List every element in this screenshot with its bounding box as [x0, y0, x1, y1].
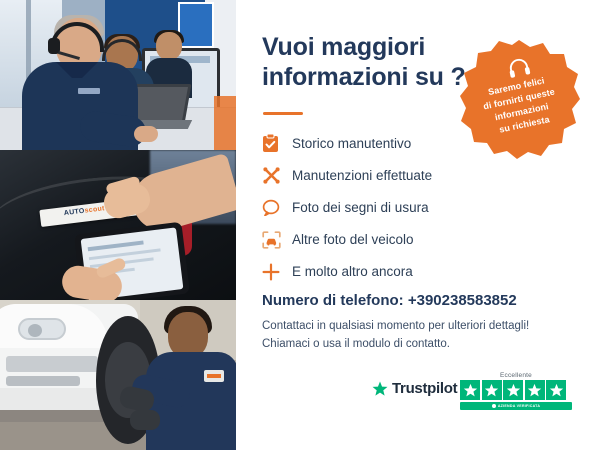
list-item-label: Storico manutentivo	[288, 136, 411, 151]
star-icon	[525, 380, 545, 400]
title-line-2: informazioni su ?	[262, 63, 466, 91]
photo-column: AUTOscout	[0, 0, 236, 450]
rating-label: Eccellente	[460, 372, 572, 379]
trustpilot-star-icon	[372, 381, 388, 397]
star-icon	[546, 380, 566, 400]
orange-object	[214, 96, 236, 150]
title-line-1: Vuoi maggiori	[262, 33, 425, 61]
clipboard-check-icon	[262, 134, 288, 153]
mechanic	[146, 306, 236, 450]
plus-icon	[262, 263, 288, 281]
feature-list: Storico manutentivo Manutenzioni effettu…	[262, 130, 522, 290]
wrench-cross-icon	[262, 166, 288, 185]
list-item-label: Foto dei segni di usura	[288, 200, 429, 215]
list-item: Altre foto del veicolo	[262, 226, 522, 253]
list-item: Manutenzioni effettuate	[262, 162, 522, 189]
car-headlight	[18, 318, 66, 340]
phone-description: Contattaci in qualsiasi momento per ulte…	[262, 318, 552, 354]
trustpilot-widget[interactable]: Trustpilot Eccellente AZIENDA VERIFICATA	[372, 372, 572, 414]
trustpilot-wordmark: Trustpilot	[392, 380, 457, 397]
car-lower-grille	[6, 376, 80, 386]
title-underline	[263, 112, 303, 115]
mechanic-wheel-photo	[0, 300, 236, 450]
phone-sub-line-1: Contattaci in qualsiasi momento per ulte…	[262, 320, 529, 332]
verified-company-badge: AZIENDA VERIFICATA	[460, 402, 572, 410]
phone-heading: Numero di telefono: +390238583852	[262, 292, 517, 309]
phone-label: Numero di telefono:	[262, 292, 408, 309]
phone-sub-line-2: Chiamaci o usa il modulo di contatto.	[262, 338, 450, 350]
list-item: E molto altro ancora	[262, 258, 522, 285]
trustpilot-rating: Eccellente AZIENDA VERIFICATA	[460, 372, 572, 410]
tablet-vehicle-inspection-photo: AUTOscout	[0, 150, 236, 300]
phone-number[interactable]: +390238583852	[408, 292, 517, 309]
verified-check-icon	[492, 404, 496, 408]
scan-car-icon	[262, 231, 288, 249]
star-rating	[460, 380, 572, 400]
trustpilot-logo: Trustpilot	[372, 380, 457, 397]
list-item: Foto dei segni di usura	[262, 194, 522, 221]
star-icon	[482, 380, 502, 400]
promo-card: AUTOscout	[0, 0, 600, 450]
list-item: Storico manutentivo	[262, 130, 522, 157]
list-item-label: Manutenzioni effettuate	[288, 168, 432, 183]
list-item-label: Altre foto del veicolo	[288, 232, 414, 247]
car-grille	[6, 356, 98, 372]
list-item-label: E molto altro ancora	[288, 264, 413, 279]
car-bumper	[0, 388, 110, 410]
verified-label: AZIENDA VERIFICATA	[498, 404, 540, 408]
call-center-agents-photo	[0, 0, 236, 150]
content-panel: Vuoi maggiori informazioni su ? Saremo f…	[236, 0, 600, 450]
foreground-agent	[22, 18, 138, 150]
speech-bubble-icon	[262, 199, 288, 216]
star-icon	[460, 380, 480, 400]
star-icon	[503, 380, 523, 400]
